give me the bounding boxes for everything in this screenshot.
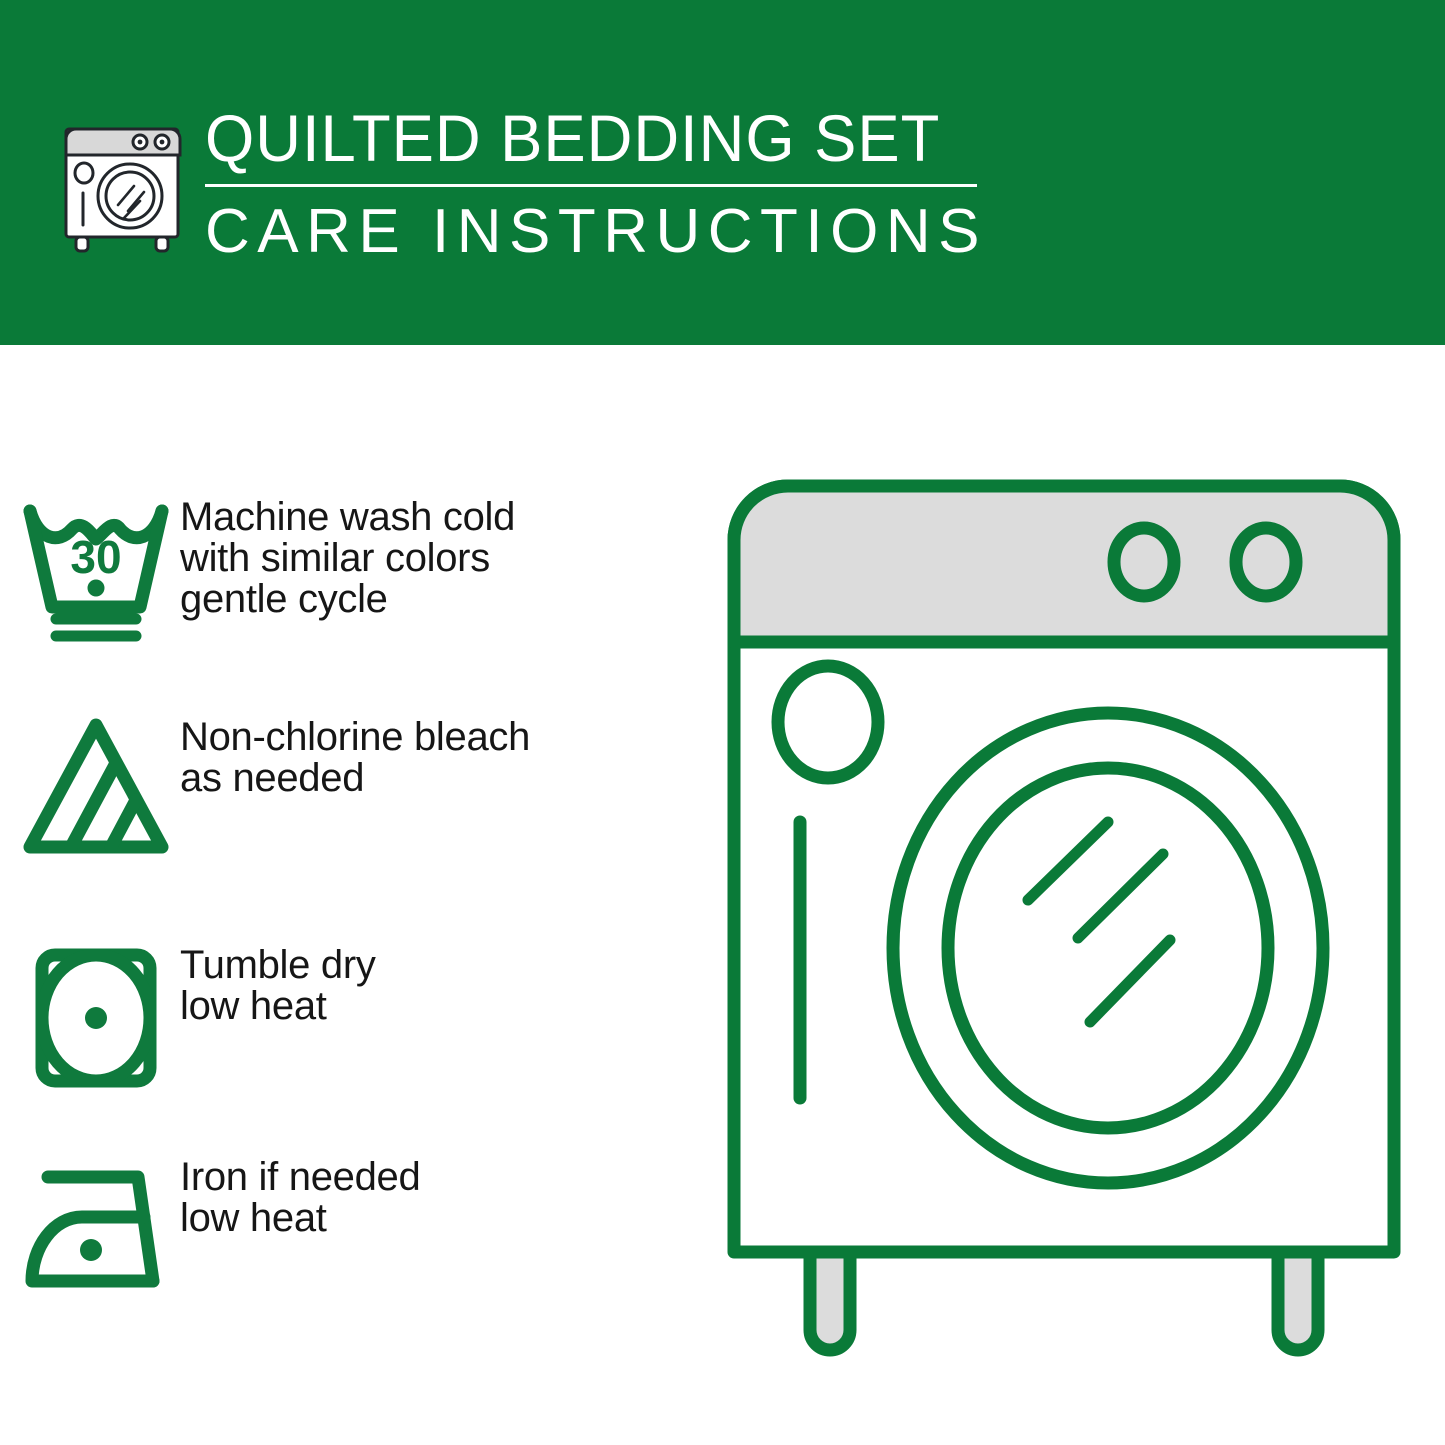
care-item-tumble-dry-text: Tumble dry low heat [180, 943, 376, 1027]
care-item-tumble-dry: Tumble dry low heat [0, 943, 700, 1093]
leg-right [1278, 1252, 1318, 1350]
care-text-line: Non-chlorine bleach [180, 717, 530, 758]
care-text-line: low heat [180, 986, 376, 1027]
care-item-iron: Iron if needed low heat [0, 1155, 700, 1305]
page-subtitle: CARE INSTRUCTIONS [205, 197, 985, 267]
care-text-line: gentle cycle [180, 579, 515, 620]
care-text-line: low heat [180, 1198, 420, 1239]
leg-left [810, 1252, 850, 1350]
knob-right [1236, 528, 1296, 596]
wash-tub-30-gentle-icon: 30 [0, 495, 180, 645]
care-instruction-list: 30 Machine wash cold with similar colors… [0, 345, 700, 1445]
knob-left [1114, 528, 1174, 596]
care-item-bleach: Non-chlorine bleach as needed [0, 715, 700, 865]
care-item-bleach-text: Non-chlorine bleach as needed [180, 715, 530, 799]
care-text-line: Machine wash cold [180, 497, 515, 538]
wash-temperature-label: 30 [70, 531, 121, 583]
title-divider [205, 184, 977, 187]
detergent-drawer-knob [778, 666, 878, 778]
washing-machine-icon [58, 101, 190, 253]
page-title: QUILTED BEDDING SET [205, 100, 954, 176]
care-item-machine-wash: 30 Machine wash cold with similar colors… [0, 495, 700, 645]
iron-low-heat-icon [0, 1155, 180, 1305]
care-item-machine-wash-text: Machine wash cold with similar colors ge… [180, 495, 515, 620]
header-text-block: QUILTED BEDDING SET CARE INSTRUCTIONS [205, 100, 985, 270]
header-band: QUILTED BEDDING SET CARE INSTRUCTIONS [0, 0, 1445, 345]
care-instructions-infographic: QUILTED BEDDING SET CARE INSTRUCTIONS 30 [0, 0, 1445, 1445]
care-text-line: as needed [180, 758, 530, 799]
tumble-dry-low-heat-icon [0, 943, 180, 1093]
care-item-iron-text: Iron if needed low heat [180, 1155, 420, 1239]
care-text-line: Tumble dry [180, 945, 376, 986]
front-load-washing-machine-illustration [718, 470, 1408, 1360]
non-chlorine-bleach-triangle-icon [0, 715, 180, 865]
care-text-line: Iron if needed [180, 1157, 420, 1198]
care-text-line: with similar colors [180, 538, 515, 579]
